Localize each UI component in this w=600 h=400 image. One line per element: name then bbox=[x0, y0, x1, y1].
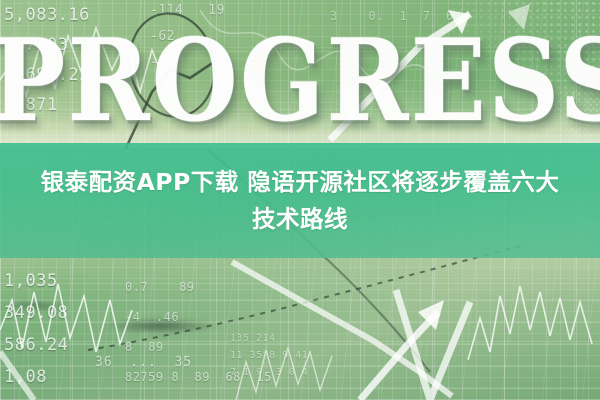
lower-volatility-line bbox=[0, 284, 132, 352]
banner-image: 5,083.16 487.03 3,691.25 5,871 1,035 349… bbox=[0, 0, 600, 400]
headline-line-1: 银泰配资APP下载 隐语开源社区将逐步覆盖六大 bbox=[41, 165, 560, 200]
left-bottom-arrow-line bbox=[0, 352, 34, 400]
mid-noise-line bbox=[236, 348, 332, 400]
headline-line-2: 技术路线 bbox=[252, 202, 348, 237]
hero-word: PROGRESS bbox=[0, 16, 600, 146]
bottom-rule-lines bbox=[0, 300, 600, 388]
right-noise-line bbox=[468, 286, 592, 360]
headline-text-block: 银泰配资APP下载 隐语开源社区将逐步覆盖六大 技术路线 bbox=[0, 143, 600, 258]
